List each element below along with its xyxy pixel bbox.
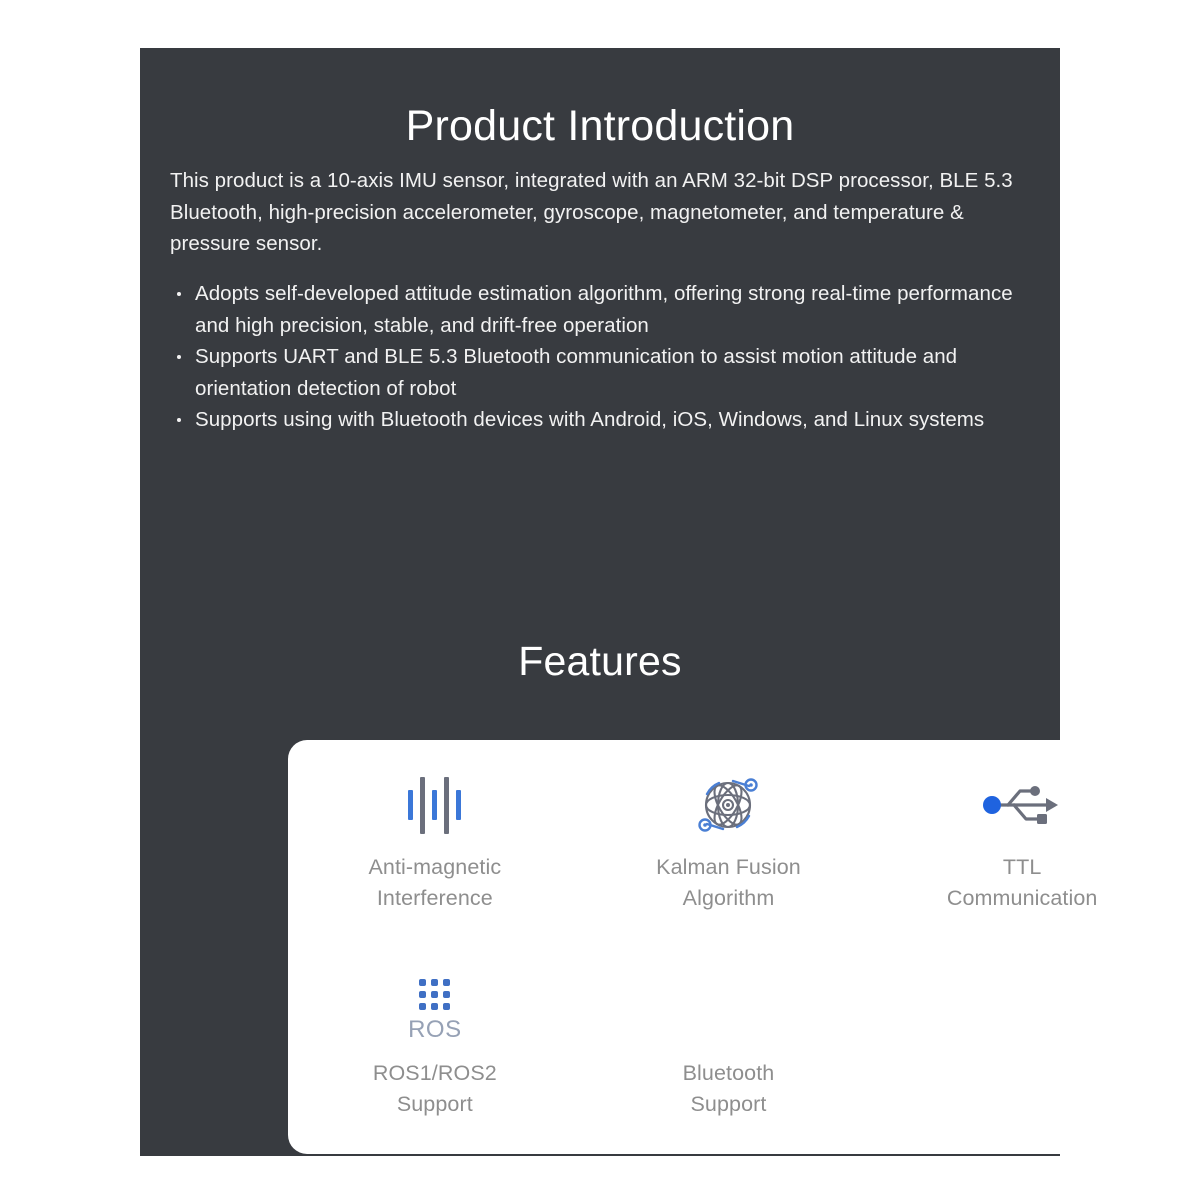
empty-icon-slot <box>1022 968 1023 1054</box>
feature-label: ROS1/ROS2 Support <box>373 1058 497 1120</box>
kalman-globe-icon <box>691 762 765 848</box>
feature-item-kalman-fusion: Kalman Fusion Algorithm <box>582 740 876 946</box>
empty-icon-slot <box>728 968 729 1054</box>
features-grid: Anti-magnetic Interference <box>288 740 1169 1154</box>
feature-item-anti-magnetic: Anti-magnetic Interference <box>288 740 582 946</box>
list-item: Adopts self-developed attitude estimatio… <box>167 278 1035 341</box>
feature-item-ros-support: ROS ROS1/ROS2 Support <box>288 946 582 1154</box>
feature-label: TTL Communication <box>947 852 1098 914</box>
product-intro-block: This product is a 10-axis IMU sensor, in… <box>170 165 1025 260</box>
feature-item-bluetooth-support: Bluetooth Support <box>582 946 876 1154</box>
feature-item-ttl-communication: TTL Communication <box>875 740 1169 946</box>
features-title: Features <box>140 635 1060 687</box>
ros-logo-text: ROS <box>408 1017 462 1043</box>
usb-ttl-icon <box>980 762 1064 848</box>
feature-label: Kalman Fusion Algorithm <box>656 852 801 914</box>
ros-logo-icon: ROS <box>408 968 462 1054</box>
product-dark-panel: Product Introduction This product is a 1… <box>140 48 1060 1156</box>
feature-item-empty <box>875 946 1169 1154</box>
product-feature-bullet-list: Adopts self-developed attitude estimatio… <box>167 278 1035 436</box>
feature-label: Bluetooth Support <box>683 1058 775 1120</box>
features-card: Anti-magnetic Interference <box>288 740 1169 1154</box>
product-introduction-title: Product Introduction <box>140 99 1060 153</box>
magnetic-bars-icon <box>408 762 461 848</box>
feature-label: Anti-magnetic Interference <box>368 852 501 914</box>
list-item: Supports using with Bluetooth devices wi… <box>167 404 1035 436</box>
product-intro-paragraph: This product is a 10-axis IMU sensor, in… <box>170 165 1025 260</box>
list-item: Supports UART and BLE 5.3 Bluetooth comm… <box>167 341 1035 404</box>
